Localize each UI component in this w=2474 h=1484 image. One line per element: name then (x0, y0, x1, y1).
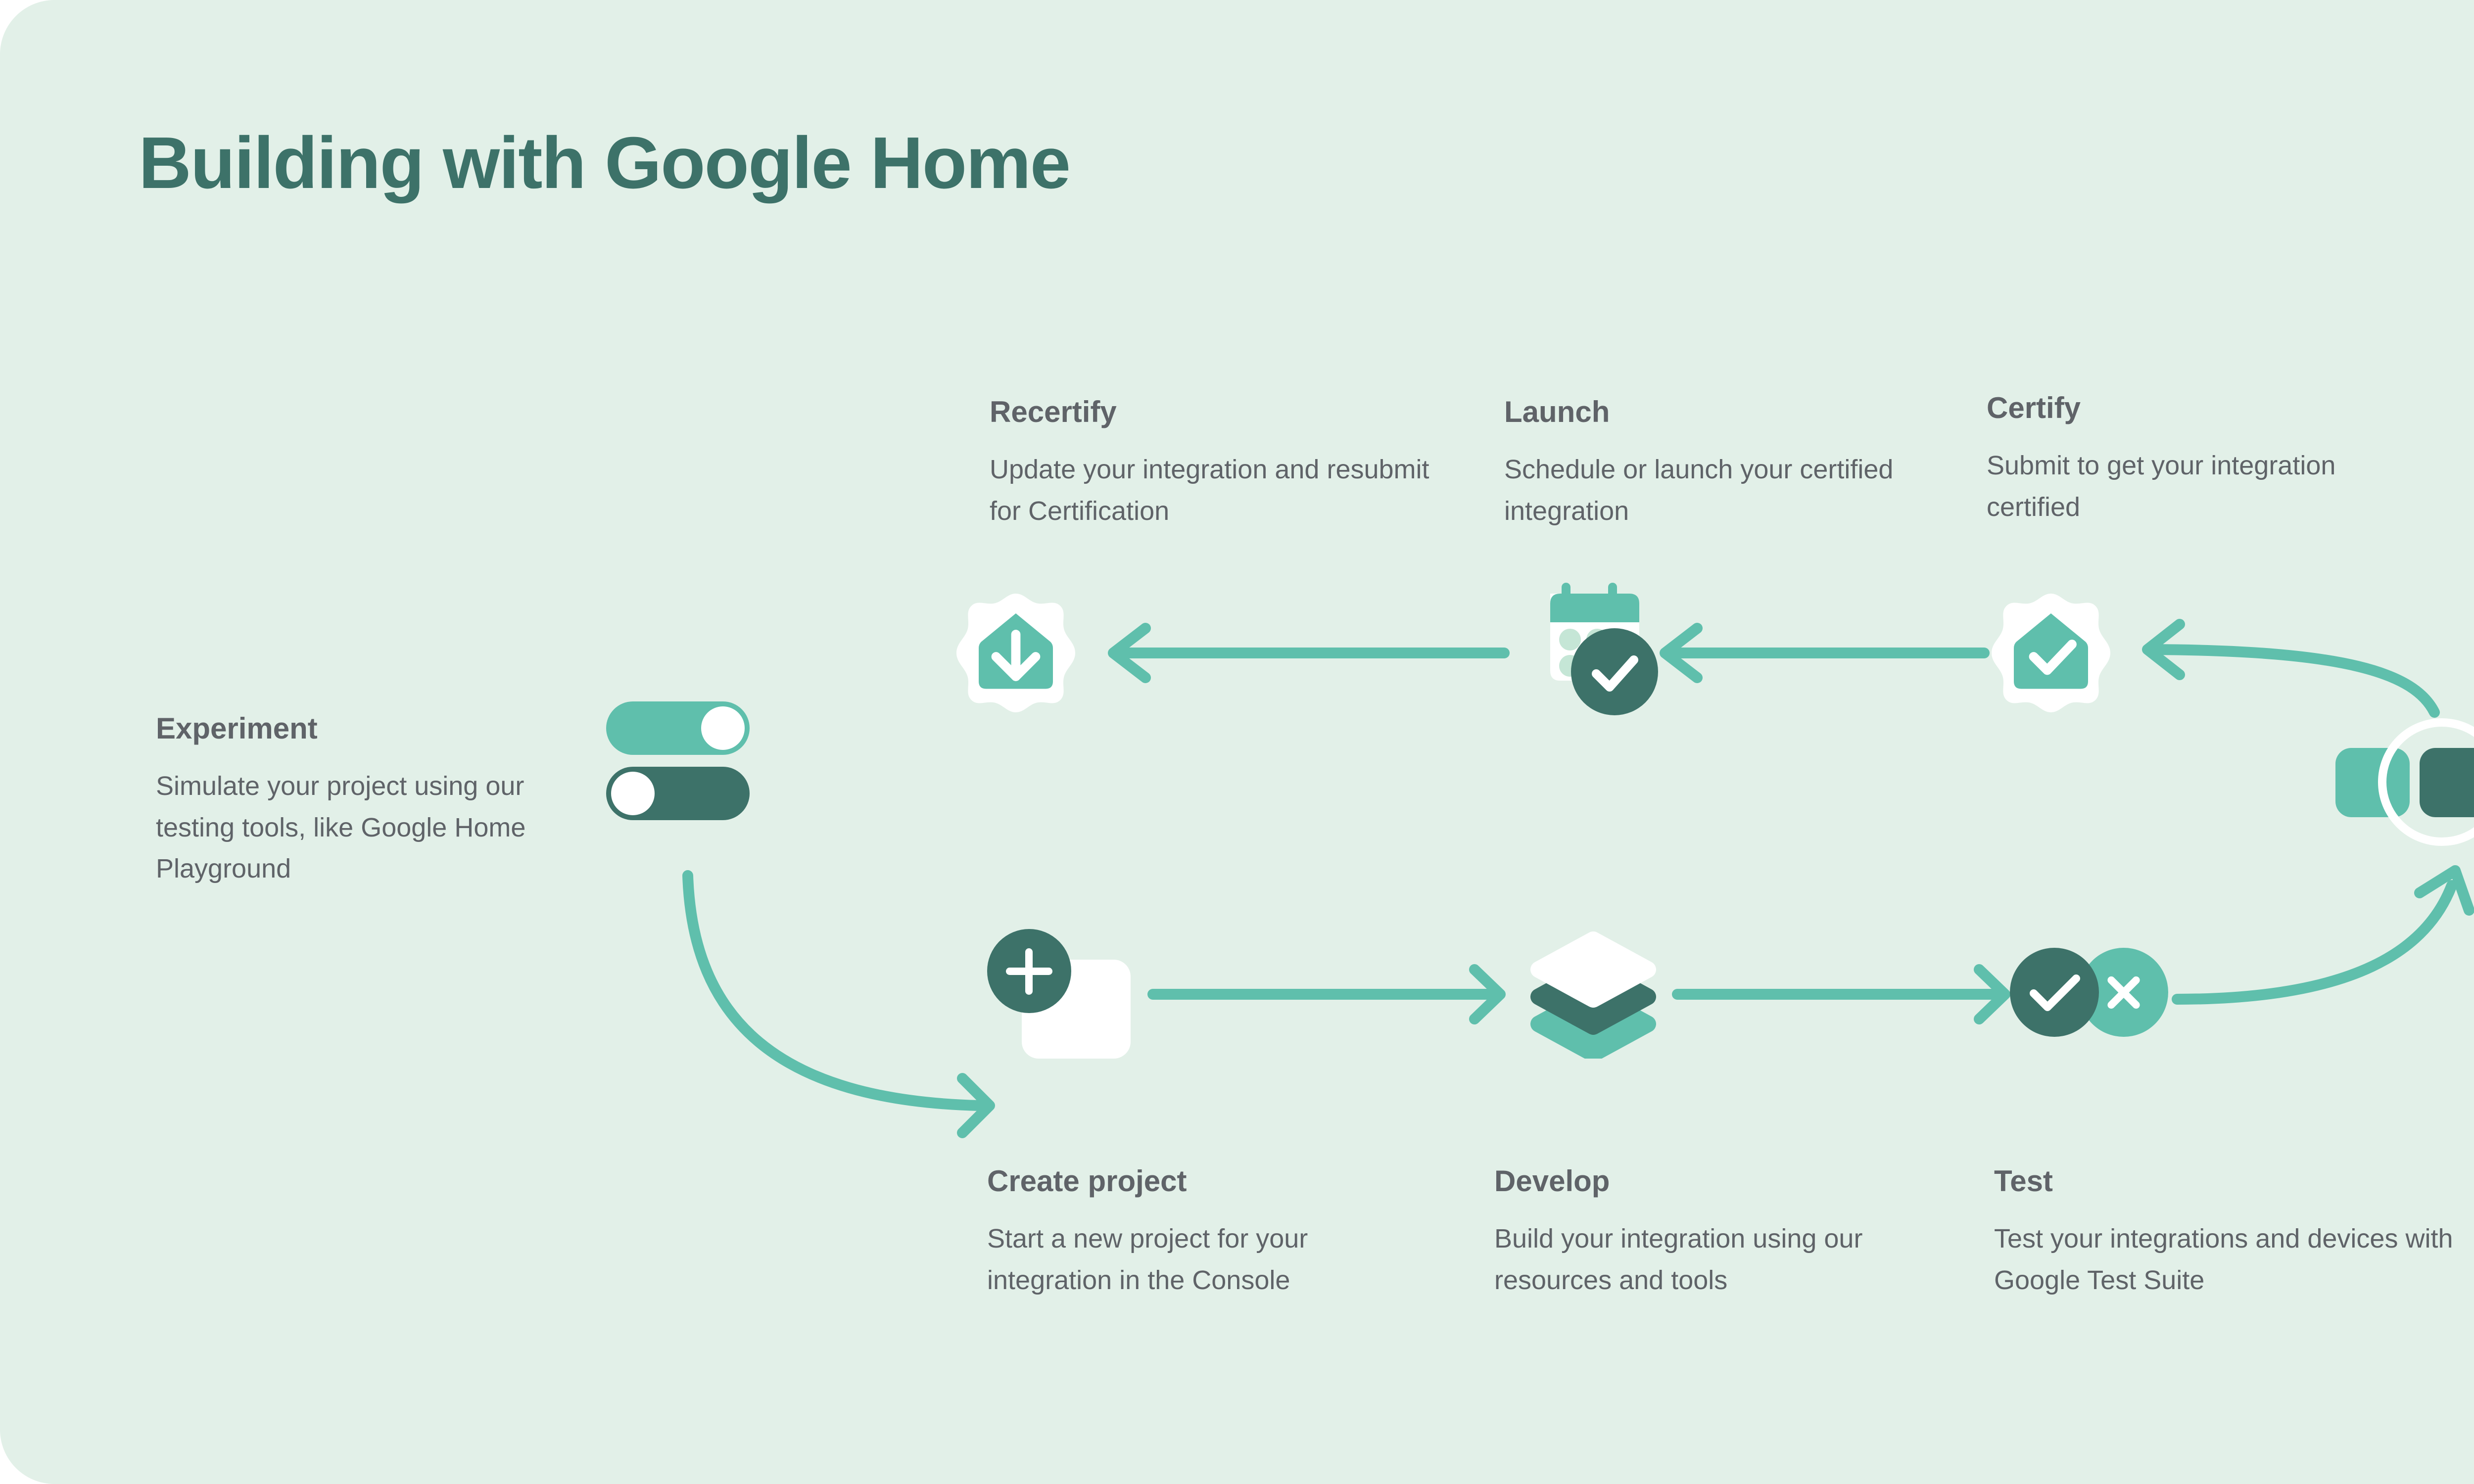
step-test-body: Test your integrations and devices with … (1994, 1218, 2459, 1301)
check-circle (2010, 948, 2099, 1037)
step-experiment-body: Simulate your project using our testing … (156, 766, 591, 890)
connector-test-to-field-trial (2177, 871, 2469, 999)
step-experiment-heading: Experiment (156, 712, 591, 745)
calendar-check-icon (1523, 583, 1671, 721)
add-circle (987, 929, 1071, 1013)
calendar-header (1550, 594, 1639, 622)
step-create-project: Create project Start a new project for y… (987, 1165, 1423, 1301)
step-develop-body: Build your integration using our resourc… (1494, 1218, 1920, 1301)
check-cross-circles-icon (2010, 948, 2168, 1037)
step-create-project-heading: Create project (987, 1165, 1423, 1198)
step-experiment: Experiment Simulate your project using o… (156, 712, 591, 890)
step-create-project-body: Start a new project for your integration… (987, 1218, 1423, 1301)
step-recertify-body: Update your integration and resubmit for… (990, 449, 1435, 532)
calendar-dot-1 (1559, 629, 1581, 650)
certified-badge-icon (1989, 591, 2113, 715)
selection-ring (2378, 718, 2474, 846)
toggle-knob-left (611, 772, 655, 815)
step-launch: Launch Schedule or launch your certified… (1504, 396, 1910, 532)
step-develop-heading: Develop (1494, 1165, 1920, 1198)
connector-launch-to-recertify (1113, 628, 1504, 678)
step-launch-body: Schedule or launch your certified integr… (1504, 449, 1910, 532)
connector-certify-to-launch (1665, 628, 1984, 678)
step-test-heading: Test (1994, 1165, 2459, 1198)
connector-develop-to-test (1677, 970, 2005, 1019)
step-certify-body: Submit to get your integration certified (1987, 445, 2363, 528)
plus-vertical-bar (1025, 948, 1033, 995)
step-recertify-heading: Recertify (990, 396, 1435, 428)
step-test: Test Test your integrations and devices … (1994, 1165, 2459, 1301)
toggle-switch-on (606, 701, 750, 755)
toggle-switch-off (606, 767, 750, 820)
diagram-canvas: Building with Google Home (0, 0, 2474, 1484)
toggle-switches-icon (606, 701, 760, 820)
launch-check-circle (1571, 628, 1658, 715)
add-card-icon (987, 929, 1136, 1058)
connector-create-project-to-develop (1153, 970, 1500, 1019)
step-develop: Develop Build your integration using our… (1494, 1165, 1920, 1301)
step-certify: Certify Submit to get your integration c… (1987, 392, 2363, 528)
step-certify-heading: Certify (1987, 392, 2363, 424)
checkmark-path (2034, 978, 2076, 1007)
recertify-badge-icon (954, 591, 1078, 715)
connector-experiment-to-create-project (688, 876, 990, 1133)
step-launch-heading: Launch (1504, 396, 1910, 428)
toggle-knob-right (701, 706, 745, 750)
device-pair-icon (2335, 737, 2474, 836)
step-recertify: Recertify Update your integration and re… (990, 396, 1435, 532)
layers-icon (1522, 930, 1665, 1059)
connector-field-trial-to-certify (2147, 624, 2434, 712)
